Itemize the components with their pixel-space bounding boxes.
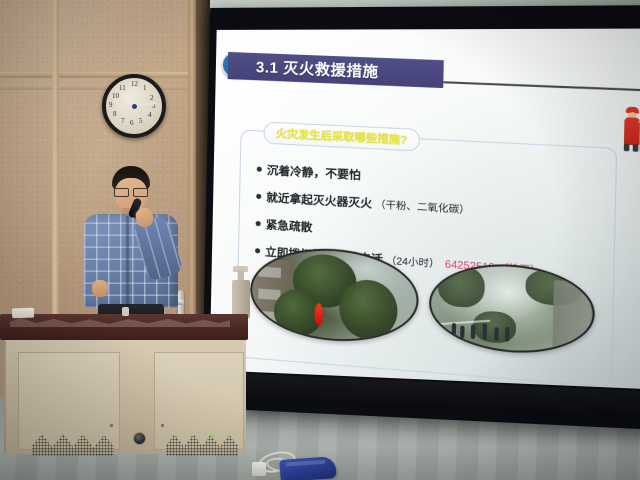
bullet-text: 紧急疏散 (266, 216, 313, 235)
lectern-cabinet (4, 338, 246, 454)
slide-content-box: 火灾发生后采取哪些措施? 沉着冷静，不要怕 就近拿起灭火器灭火 （干粉、二氧化碳… (236, 129, 617, 387)
wall-clock: 12 1 2 3 4 5 6 7 8 9 10 11 (102, 74, 166, 138)
clock-number: 5 (139, 118, 143, 125)
slide-photo-group (245, 240, 605, 366)
bullet-dot-icon (256, 221, 261, 226)
blue-bag (279, 456, 336, 480)
cabinet-keyhole[interactable] (110, 424, 113, 427)
clock-number: 12 (131, 81, 138, 88)
white-power-box (252, 462, 266, 476)
hand-sanitizer-bottle[interactable] (232, 262, 250, 318)
lectern-desktop (0, 314, 248, 340)
clock-number: 1 (143, 85, 147, 92)
worn-paint-patch (10, 318, 230, 327)
paper-sheet (12, 308, 34, 319)
bottle-body (232, 280, 250, 318)
bullet-text: 沉着冷静，不要怕 (267, 162, 361, 183)
clock-number: 7 (121, 118, 125, 125)
bullet-dot-icon (257, 167, 262, 172)
clock-number: 2 (150, 95, 154, 102)
slide-title: 3.1 灭火救援措施 (256, 56, 379, 82)
slide-question-badge: 火灾发生后采取哪些措施? (263, 122, 420, 152)
wall-trim-horizontal-2 (0, 86, 196, 90)
lecture-hall-photo: 12 1 2 3 4 5 6 7 8 9 10 11 3.1 灭火救援措施 (0, 0, 640, 480)
wall-trim-vertical (52, 0, 59, 330)
cartoon-firefighter-icon (621, 106, 640, 156)
lectern (0, 314, 248, 454)
building-shape (552, 280, 591, 350)
small-cap-object (122, 307, 129, 316)
bullet-note: （干粉、二氧化碳） (375, 195, 470, 216)
presentation-slide: 3.1 灭火救援措施 火灾发生后采取哪些措施? (210, 29, 640, 390)
slide-question-text: 火灾发生后采取哪些措施? (276, 125, 408, 148)
projection-screen: 3.1 灭火救援措施 火灾发生后采取哪些措施? (202, 5, 640, 430)
people-group (449, 317, 516, 343)
tree-shape (437, 264, 485, 309)
fire-scene-photo-right (428, 259, 596, 358)
presenter-hand-left (92, 280, 108, 297)
cabinet-lock[interactable] (133, 432, 146, 445)
slide-title-rule (443, 81, 640, 91)
clock-number: 9 (109, 102, 113, 109)
cabinet-keyhole[interactable] (161, 424, 164, 427)
clock-number: 4 (148, 112, 152, 119)
glasses-icon (114, 188, 148, 195)
clock-number: 11 (119, 85, 126, 92)
clock-number: 6 (130, 120, 134, 127)
status-led (211, 435, 214, 438)
bullet-dot-icon (256, 194, 261, 199)
fire-scene-photo-left (249, 244, 419, 347)
flame-shape (314, 303, 323, 326)
shirt-placket (126, 216, 129, 306)
slide-title-bar: 3.1 灭火救援措施 (228, 52, 444, 88)
cabinet-door-right[interactable] (154, 352, 244, 450)
tree-shape (339, 278, 398, 341)
clock-number: 10 (112, 93, 119, 100)
bullet-text: 就近拿起灭火器灭火 (266, 189, 372, 211)
clock-number: 8 (113, 111, 117, 118)
firefighter-boot (633, 144, 639, 152)
cabinet-door-left[interactable] (18, 352, 120, 450)
presenter (74, 166, 186, 326)
wall-trim-horizontal (0, 72, 196, 78)
clock-center-pin (132, 104, 137, 109)
firefighter-boot (624, 144, 630, 152)
